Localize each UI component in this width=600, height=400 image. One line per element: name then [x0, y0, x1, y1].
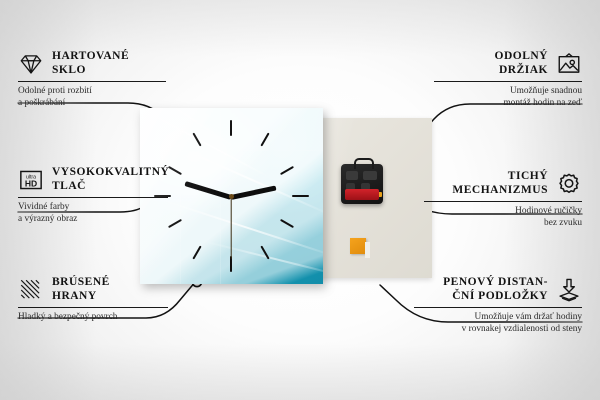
- feature-polished-edges: BRÚSENÉHRANY Hladký a bezpečný povrch: [18, 276, 168, 324]
- feature-description: Hladký a bezpečný povrch: [18, 312, 168, 324]
- feature-title: HARTOVANÉSKLO: [52, 50, 129, 77]
- diamond-icon: [18, 51, 44, 77]
- feature-divider: [18, 307, 168, 308]
- gear-icon: [556, 171, 582, 197]
- mechanism-slot: [346, 171, 358, 180]
- feature-header: BRÚSENÉHRANY: [18, 276, 168, 303]
- battery: [345, 189, 379, 200]
- feature-header: ODOLNÝDRŽIAK: [434, 50, 582, 77]
- infographic-canvas: HARTOVANÉSKLO Odolné proti rozbitía pošk…: [0, 0, 600, 400]
- feature-high-quality-print: ultra HD VYSOKOKVALITNÝTLAČ Vividné farb…: [18, 166, 168, 225]
- feature-divider: [434, 81, 582, 82]
- picture-frame-hook-icon: [556, 51, 582, 77]
- feature-description: Vividné farbya výrazný obraz: [18, 202, 168, 225]
- hanger-hook: [354, 158, 374, 169]
- clock-mechanism: [341, 164, 383, 204]
- svg-text:HD: HD: [25, 178, 37, 188]
- feature-header: PENOVÝ DISTAN-ČNÍ PODLOŽKY: [414, 276, 582, 303]
- feature-title: VYSOKOKVALITNÝTLAČ: [52, 166, 169, 193]
- mechanism-slot: [363, 171, 377, 180]
- bevelled-edges-icon: [18, 277, 44, 303]
- foam-pad-press-icon: [556, 277, 582, 303]
- feature-header: HARTOVANÉSKLO: [18, 50, 166, 77]
- feature-silent-mechanism: TICHÝMECHANIZMUS Hodinové ručičkybez zvu…: [424, 170, 582, 229]
- feature-header: ultra HD VYSOKOKVALITNÝTLAČ: [18, 166, 168, 193]
- feature-header: TICHÝMECHANIZMUS: [424, 170, 582, 197]
- ultra-hd-icon: ultra HD: [18, 167, 44, 193]
- feature-durable-hanger: ODOLNÝDRŽIAK Umožňuje snadnoumontáž hodi…: [434, 50, 582, 109]
- feature-divider: [424, 201, 582, 202]
- feature-description: Hodinové ručičkybez zvuku: [424, 206, 582, 229]
- feature-tempered-glass: HARTOVANÉSKLO Odolné proti rozbitía pošk…: [18, 50, 166, 109]
- feature-description: Odolné proti rozbitía poškrábání: [18, 86, 166, 109]
- feature-title: BRÚSENÉHRANY: [52, 276, 110, 303]
- feature-foam-spacers: PENOVÝ DISTAN-ČNÍ PODLOŽKY Umožňuje vám …: [414, 276, 582, 335]
- feature-title: PENOVÝ DISTAN-ČNÍ PODLOŽKY: [443, 276, 548, 303]
- foam-spacer-pad: [350, 238, 366, 254]
- feature-divider: [414, 307, 582, 308]
- feature-title: TICHÝMECHANIZMUS: [452, 170, 548, 197]
- feature-divider: [18, 81, 166, 82]
- feature-description: Umožňuje snadnoumontáž hodin na zeď: [434, 86, 582, 109]
- feature-description: Umožňuje vám držať hodinyv rovnakej vzdi…: [414, 312, 582, 335]
- feature-divider: [18, 197, 168, 198]
- feature-title: ODOLNÝDRŽIAK: [495, 50, 548, 77]
